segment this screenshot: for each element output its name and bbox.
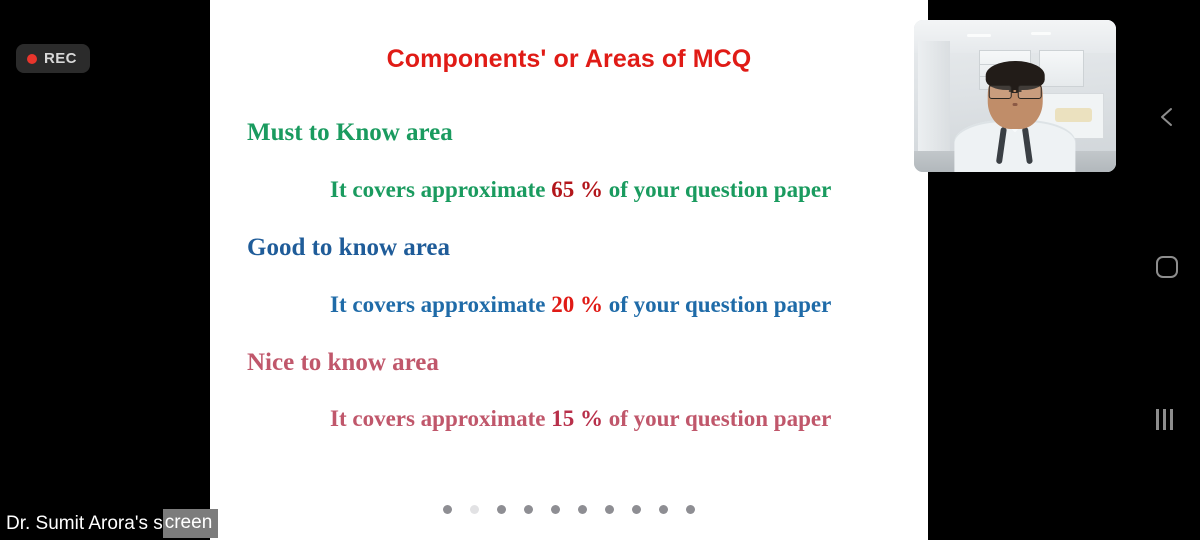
- detail-text-after: of your question paper: [603, 177, 831, 202]
- pagination-dot[interactable]: [524, 505, 533, 514]
- pagination-dot[interactable]: [551, 505, 560, 514]
- pagination-dot[interactable]: [632, 505, 641, 514]
- detail-text-before: It covers approximate: [330, 292, 551, 317]
- glasses-lens-right: [1018, 85, 1041, 99]
- room-object: [1055, 108, 1091, 122]
- screen-share-label: Dr. Sumit Arora's s creen: [0, 507, 218, 540]
- recording-dot-icon: [27, 54, 37, 64]
- pagination-dot[interactable]: [497, 505, 506, 514]
- pagination-dot[interactable]: [686, 505, 695, 514]
- glasses-lens-left: [989, 85, 1012, 99]
- back-chevron-icon[interactable]: [1155, 104, 1181, 130]
- person-glasses: [989, 85, 1042, 99]
- recent-apps-icon[interactable]: [1156, 408, 1180, 430]
- share-label-part-two: creen: [163, 509, 219, 538]
- detail-text-after: of your question paper: [603, 406, 831, 431]
- area-detail-must-to-know: It covers approximate 65 % of your quest…: [330, 177, 831, 203]
- area-heading-must-to-know: Must to Know area: [247, 119, 453, 147]
- participant-video-thumbnail[interactable]: [914, 20, 1116, 172]
- room-pillar: [918, 41, 950, 153]
- pagination-dot[interactable]: [578, 505, 587, 514]
- area-detail-nice-to-know: It covers approximate 15 % of your quest…: [330, 406, 831, 432]
- pagination-dot[interactable]: [470, 505, 479, 514]
- glasses-bridge: [1012, 92, 1018, 94]
- slide-pagination[interactable]: [210, 505, 928, 514]
- area-heading-good-to-know: Good to know area: [247, 234, 450, 262]
- ceiling-light-one: [967, 34, 991, 37]
- ceiling-light-two: [1031, 32, 1051, 35]
- shared-slide[interactable]: Components' or Areas of MCQ Must to Know…: [210, 0, 928, 540]
- pagination-dot[interactable]: [659, 505, 668, 514]
- area-detail-good-to-know: It covers approximate 20 % of your quest…: [330, 292, 831, 318]
- percent-value-must-to-know: 65 %: [551, 177, 603, 202]
- slide-title: Components' or Areas of MCQ: [210, 45, 928, 74]
- pagination-dot[interactable]: [605, 505, 614, 514]
- screen-share-viewer: REC Components' or Areas of MCQ Must to …: [0, 0, 1200, 540]
- recent-bar: [1156, 409, 1159, 430]
- room-window-right: [1039, 50, 1083, 86]
- video-frame: [914, 20, 1116, 172]
- detail-text-before: It covers approximate: [330, 177, 551, 202]
- recent-bar: [1163, 409, 1166, 430]
- recording-label: REC: [44, 50, 77, 67]
- area-heading-nice-to-know: Nice to know area: [247, 349, 439, 377]
- recording-badge: REC: [16, 44, 90, 73]
- home-square-icon[interactable]: [1156, 256, 1178, 278]
- pagination-dot[interactable]: [443, 505, 452, 514]
- recent-bar: [1170, 409, 1173, 430]
- person-mouth: [1013, 103, 1017, 106]
- detail-text-before: It covers approximate: [330, 406, 551, 431]
- detail-text-after: of your question paper: [603, 292, 831, 317]
- percent-value-nice-to-know: 15 %: [551, 406, 603, 431]
- percent-value-good-to-know: 20 %: [551, 292, 603, 317]
- share-label-part-one: Dr. Sumit Arora's s: [0, 513, 163, 535]
